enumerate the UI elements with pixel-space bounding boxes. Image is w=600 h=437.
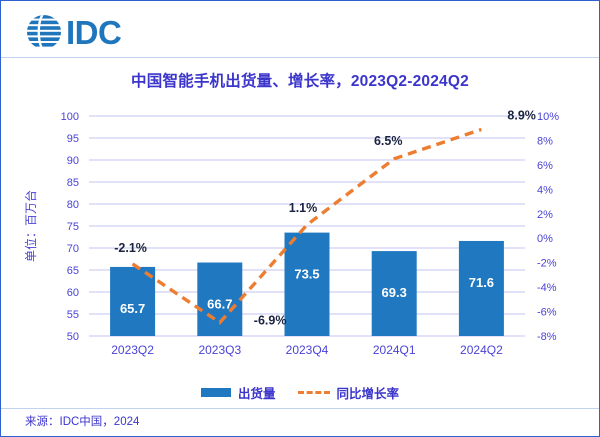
y-axis-tick-label: 80	[67, 199, 79, 211]
y-axis-tick-label: 50	[67, 331, 79, 343]
y2-axis-tick-label: 8%	[537, 135, 553, 147]
page-title: 中国智能手机出货量、增长率，2023Q2-2024Q2	[1, 69, 599, 91]
bar[interactable]	[285, 233, 330, 336]
x-axis-tick-label: 2023Q4	[286, 343, 329, 357]
legend-item-growth[interactable]: 同比增长率	[298, 383, 400, 402]
legend-item-shipments[interactable]: 出货量	[201, 383, 276, 402]
y2-axis-tick-label: -8%	[537, 331, 557, 343]
bar-value-label: 71.6	[469, 275, 494, 290]
growth-value-label: -6.9%	[254, 314, 287, 328]
bar-value-label: 66.7	[207, 297, 232, 312]
y2-axis-tick-label: 4%	[537, 184, 553, 196]
bar-swatch-icon	[201, 388, 231, 397]
x-axis-tick-label: 2023Q2	[111, 343, 154, 357]
x-axis-tick-label: 2024Q1	[373, 343, 416, 357]
y-axis-tick-label: 85	[67, 177, 79, 189]
growth-value-label: 1.1%	[289, 201, 318, 215]
x-axis-tick-label: 2024Q2	[460, 343, 503, 357]
legend-label-growth: 同比增长率	[337, 383, 400, 402]
y2-axis-tick-label: 2%	[537, 209, 553, 221]
bar-value-label: 65.7	[120, 301, 145, 316]
globe-icon	[25, 13, 65, 51]
y2-axis-tick-label: -4%	[537, 282, 557, 294]
y-axis-tick-label: 55	[67, 309, 79, 321]
y2-axis-tick-label: 6%	[537, 160, 553, 172]
growth-value-label: 6.5%	[374, 134, 403, 148]
dashed-line-swatch-icon	[298, 391, 330, 394]
y-axis-title: 单位：百万台	[23, 190, 38, 262]
source-note: 来源：IDC中国，2024	[25, 413, 139, 429]
y-axis-tick-label: 90	[67, 155, 79, 167]
header: IDC	[1, 1, 599, 57]
x-axis-tick-label: 2023Q3	[198, 343, 241, 357]
footer-divider	[1, 408, 599, 409]
idc-logo: IDC	[25, 13, 155, 51]
y-axis-tick-label: 60	[67, 287, 79, 299]
legend-label-shipments: 出货量	[238, 383, 276, 402]
growth-value-label: 8.9%	[507, 108, 536, 122]
header-divider	[1, 57, 599, 58]
bar-value-label: 69.3	[382, 285, 407, 300]
y-axis-tick-label: 65	[67, 265, 79, 277]
y2-axis-tick-label: 10%	[537, 111, 559, 123]
y2-axis-tick-label: -2%	[537, 258, 557, 270]
chart-card: IDC 中国智能手机出货量、增长率，2023Q2-2024Q2 50556065…	[0, 0, 600, 437]
chart-legend: 出货量 同比增长率	[1, 382, 599, 402]
y-axis-tick-label: 75	[67, 221, 79, 233]
y-axis-tick-label: 95	[67, 133, 79, 145]
y-axis-tick-label: 70	[67, 243, 79, 255]
bar-value-label: 73.5	[294, 267, 319, 282]
growth-value-label: -2.1%	[114, 241, 147, 255]
y2-axis-tick-label: 0%	[537, 233, 553, 245]
chart-plot: 50556065707580859095100-8%-6%-4%-2%0%2%4…	[1, 101, 599, 381]
y-axis-tick-label: 100	[61, 111, 79, 123]
y2-axis-tick-label: -6%	[537, 307, 557, 319]
idc-wordmark: IDC	[66, 14, 121, 51]
